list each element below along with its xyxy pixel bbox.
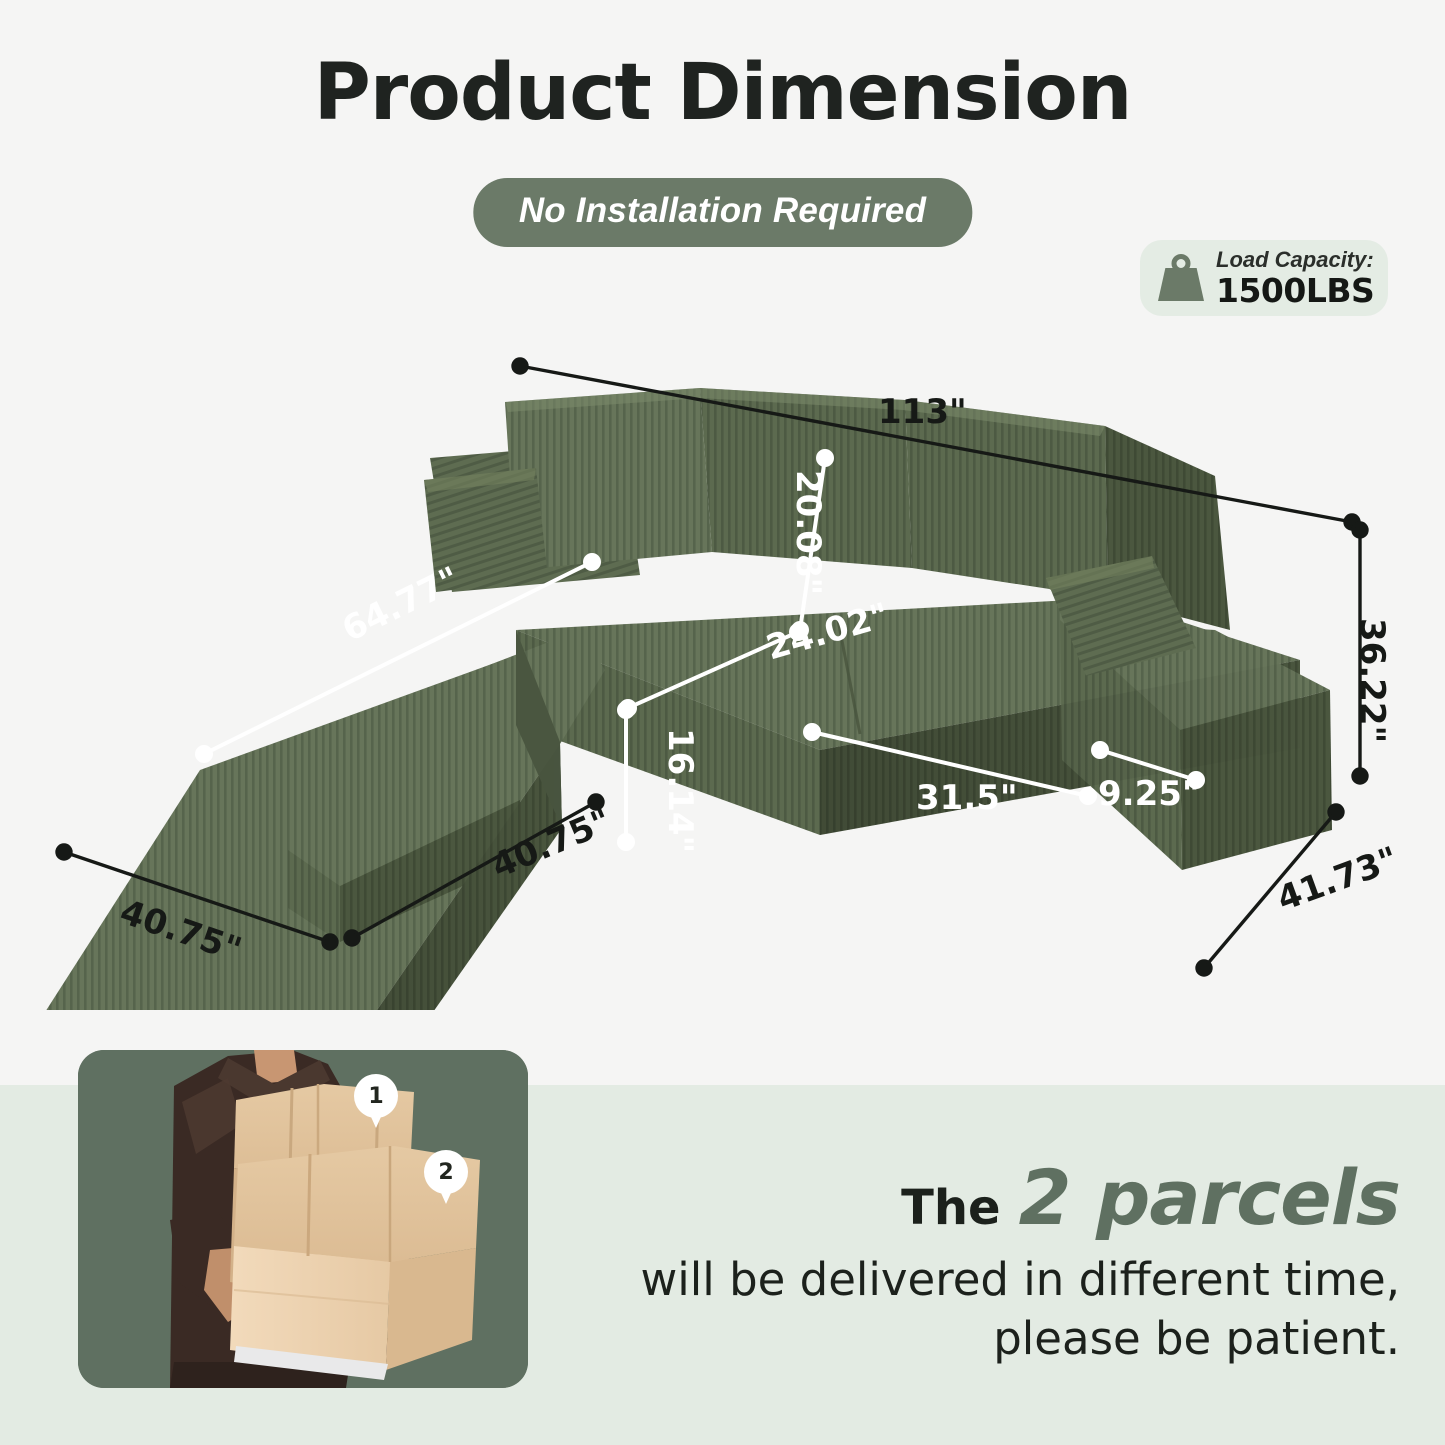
sofa-illustration: 113" 20.08" 24.02" 16.14" 64.77" 31.5" 9…: [0, 330, 1445, 1010]
delivery-message-line1: will be delivered in different time,: [600, 1250, 1400, 1309]
no-installation-badge: No Installation Required: [473, 178, 972, 247]
load-capacity-label: Load Capacity:: [1216, 249, 1374, 271]
delivery-message-parcels: 2 parcels: [1019, 1153, 1400, 1242]
page-title: Product Dimension: [0, 48, 1445, 138]
delivery-photo: 1 2: [78, 1050, 528, 1388]
delivery-message: The2 parcels will be delivered in differ…: [600, 1160, 1400, 1369]
load-capacity-value: 1500LBS: [1216, 274, 1374, 307]
infographic-root: Product Dimension No Installation Requir…: [0, 0, 1445, 1445]
parcel-pin-1: 1: [354, 1074, 398, 1128]
sofa-drawing: [0, 330, 1445, 1010]
weight-icon: [1158, 254, 1204, 302]
load-capacity-badge: Load Capacity: 1500LBS: [1140, 240, 1388, 316]
delivery-message-line2: please be patient.: [600, 1309, 1400, 1368]
delivery-photo-illustration: [78, 1050, 528, 1388]
delivery-message-the: The: [901, 1180, 1000, 1236]
parcel-pin-2: 2: [424, 1150, 468, 1204]
